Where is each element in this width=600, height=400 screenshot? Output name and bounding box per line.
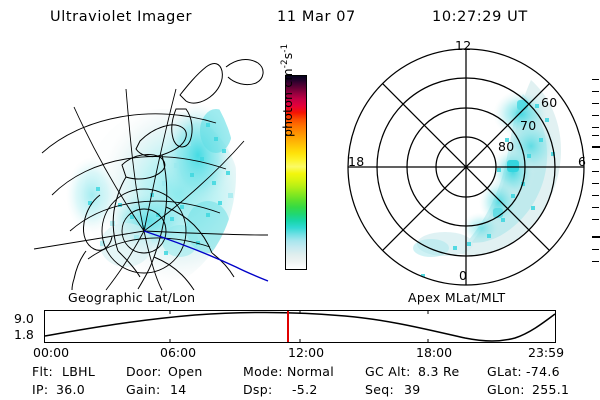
status-dsp-label: Dsp: (243, 382, 272, 397)
geographic-plot (30, 45, 270, 290)
status-bar: Flt: LBHL Door: Open Mode: Normal GC Alt… (0, 364, 600, 400)
mlt-label-6: 6 (578, 154, 586, 169)
status-seq-value: 39 (404, 382, 421, 397)
geographic-image-panel[interactable] (30, 45, 270, 290)
header-bar: Ultraviolet Imager 11 Mar 07 10:27:29 UT (0, 6, 600, 32)
colorbar-axis-title-main: photon cm (280, 68, 295, 137)
status-dsp-value: -5.2 (292, 382, 318, 397)
aurora-oval (413, 80, 561, 278)
status-gain-value: 14 (170, 382, 187, 397)
strip-xtick-4: 23:59 (528, 345, 564, 360)
strip-xtick-1: 06:00 (160, 345, 196, 360)
colorbar-axis-title-sup1: -2 (280, 59, 290, 68)
strip-xtick-0: 00:00 (33, 345, 69, 360)
status-mode-label: Mode: (243, 364, 283, 379)
current-time-marker (287, 311, 289, 342)
strip-ytick-high: 9.0 (14, 311, 34, 326)
status-gcalt-value: 8.3 Re (418, 364, 459, 379)
page-title: Ultraviolet Imager (50, 9, 192, 25)
strip-plot-box (44, 310, 556, 343)
status-gain-label: Gain: (126, 382, 160, 397)
strip-xtick-3: 18:00 (416, 345, 452, 360)
mlat-ring-label-80: 80 (498, 139, 515, 154)
colorbar-panel[interactable]: 100 10 photon cm-2s-1 (285, 75, 307, 270)
status-flt-value: LBHL (62, 364, 95, 379)
status-glon-label: GLon: (487, 382, 525, 397)
apex-dial-panel[interactable]: 12 18 6 0 60 70 80 (335, 42, 597, 292)
right-panel-caption: Apex MLat/MLT (408, 290, 505, 305)
mlt-label-18: 18 (348, 154, 365, 169)
dial-grid (348, 49, 584, 285)
observation-time: 10:27:29 UT (432, 9, 528, 25)
mlt-label-12: 12 (455, 38, 472, 53)
status-glat-label: GLat: (487, 364, 522, 379)
left-panel-caption: Geographic Lat/Lon (68, 290, 195, 305)
colorbar-axis-title-sup2: -1 (280, 44, 290, 53)
colorbar-axis-title: photon cm-2s-1 (280, 0, 295, 137)
strip-ytick-low: 1.8 (14, 327, 34, 342)
status-mode-value: Normal (287, 364, 334, 379)
uv-imager-window: Ultraviolet Imager 11 Mar 07 10:27:29 UT (0, 0, 600, 400)
status-ip-value: 36.0 (56, 382, 85, 397)
status-glon-value: 255.1 (532, 382, 569, 397)
mlat-ring-label-60: 60 (541, 95, 558, 110)
apex-mlat-mlt-plot (335, 42, 597, 292)
status-door-value: Open (168, 364, 203, 379)
altitude-trace (45, 311, 555, 342)
strip-xtick-2: 12:00 (288, 345, 324, 360)
status-seq-label: Seq: (365, 382, 394, 397)
status-door-label: Door: (126, 364, 162, 379)
status-gcalt-label: GC Alt: (365, 364, 411, 379)
colorbar-axis-title-mid: s (280, 53, 295, 60)
mlt-label-0: 0 (459, 268, 467, 283)
status-flt-label: Flt: (32, 364, 53, 379)
status-ip-label: IP: (32, 382, 48, 397)
mlat-ring-label-70: 70 (520, 118, 537, 133)
status-glat-value: -74.6 (526, 364, 560, 379)
